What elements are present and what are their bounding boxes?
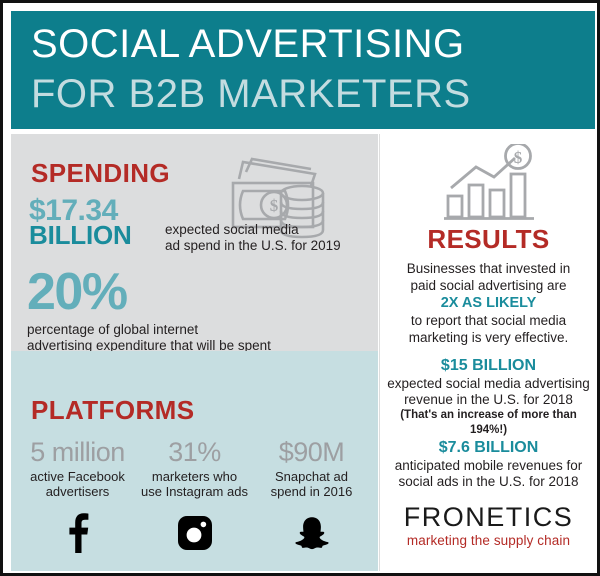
column-divider [379, 134, 380, 571]
spending-stat-1-unit: BILLION [29, 223, 165, 248]
results-body-line3: to report that social media [411, 313, 566, 328]
platform-item-facebook: 5 million active Facebook advertisers [19, 437, 136, 553]
platforms-section: PLATFORMS 5 million active Facebook adve… [11, 351, 378, 571]
platform-instagram-desc-line1: marketers who [152, 469, 237, 484]
results-section: $ RESULTS Businesses that invested in pa… [382, 134, 595, 571]
platform-facebook-value: 5 million [19, 437, 136, 467]
results-mobile-desc-line2: social ads in the U.S. for 2018 [398, 474, 578, 489]
results-block-revenue: $15 BILLION expected social media advert… [384, 356, 593, 438]
logo-tagline: marketing the supply chain [382, 532, 595, 549]
header-title-line1: SOCIAL ADVERTISING [31, 19, 595, 69]
spending-stat-1: $17.34 BILLION expected social media ad … [29, 198, 369, 254]
platform-facebook-description: active Facebook advertisers [19, 469, 136, 499]
facebook-icon [19, 513, 136, 553]
platform-instagram-value: 31% [136, 437, 253, 467]
spending-stat-1-desc-line1: expected social media [165, 222, 299, 237]
snapchat-icon [253, 513, 370, 553]
header-title-line2: FOR B2B MARKETERS [31, 69, 595, 119]
platform-instagram-description: marketers who use Instagram ads [136, 469, 253, 499]
svg-text:$: $ [514, 148, 523, 167]
results-body-line4: marketing is very effective. [409, 330, 569, 345]
platform-snapchat-desc-line1: Snapchat ad [275, 469, 348, 484]
results-mobile-description: anticipated mobile revenues for social a… [384, 458, 593, 490]
results-revenue-desc-line1: expected social media advertising [387, 376, 590, 391]
results-highlight: 2X AS LIKELY [441, 295, 537, 311]
results-mobile-desc-line1: anticipated mobile revenues for [395, 458, 583, 473]
spending-stat-2-value: 20% [27, 266, 155, 318]
platform-facebook-desc-line1: active Facebook [30, 469, 125, 484]
platform-facebook-desc-line2: advertisers [46, 484, 110, 499]
results-revenue-amount: $15 BILLION [384, 356, 593, 376]
results-body-text: Businesses that invested in paid social … [388, 260, 589, 346]
spending-stat-1-value-group: $17.34 BILLION [29, 198, 165, 248]
platform-snapchat-value: $90M [253, 437, 370, 467]
results-mobile-amount: $7.6 BILLION [384, 438, 593, 458]
results-revenue-desc-line2: revenue in the U.S. for 2018 [404, 392, 573, 407]
fronetics-logo: FRONETICS marketing the supply chain [382, 502, 595, 549]
infographic-root: SOCIAL ADVERTISING FOR B2B MARKETERS SPE… [0, 0, 600, 576]
platforms-list: 5 million active Facebook advertisers 31… [19, 437, 370, 553]
platform-instagram-desc-line2: use Instagram ads [141, 484, 248, 499]
spending-stat-2-desc-line1: percentage of global internet [27, 322, 198, 337]
platform-snapchat-desc-line2: spend in 2016 [271, 484, 353, 499]
spending-stat-1-desc-line2: ad spend in the U.S. for 2019 [165, 238, 341, 253]
bar-chart-growth-dollar-icon: $ [442, 144, 537, 229]
results-body-line2: paid social advertising are [410, 278, 566, 293]
platform-item-instagram: 31% marketers who use Instagram ads [136, 437, 253, 553]
spending-heading: SPENDING [31, 158, 170, 189]
header-banner: SOCIAL ADVERTISING FOR B2B MARKETERS [11, 11, 595, 129]
results-heading: RESULTS [382, 224, 595, 255]
results-revenue-description: expected social media advertising revenu… [384, 376, 593, 408]
platform-snapchat-description: Snapchat ad spend in 2016 [253, 469, 370, 499]
logo-name: FRONETICS [382, 502, 595, 532]
instagram-icon [136, 513, 253, 553]
platforms-heading: PLATFORMS [31, 395, 194, 426]
spending-stat-1-description: expected social media ad spend in the U.… [165, 198, 341, 254]
platform-item-snapchat: $90M Snapchat ad spend in 2016 [253, 437, 370, 553]
results-body-line1: Businesses that invested in [407, 261, 571, 276]
results-revenue-note: (That's an increase of more than 194%!) [384, 408, 593, 438]
results-block-mobile: $7.6 BILLION anticipated mobile revenues… [384, 438, 593, 490]
spending-section: SPENDING $ $17.34 [11, 134, 378, 351]
